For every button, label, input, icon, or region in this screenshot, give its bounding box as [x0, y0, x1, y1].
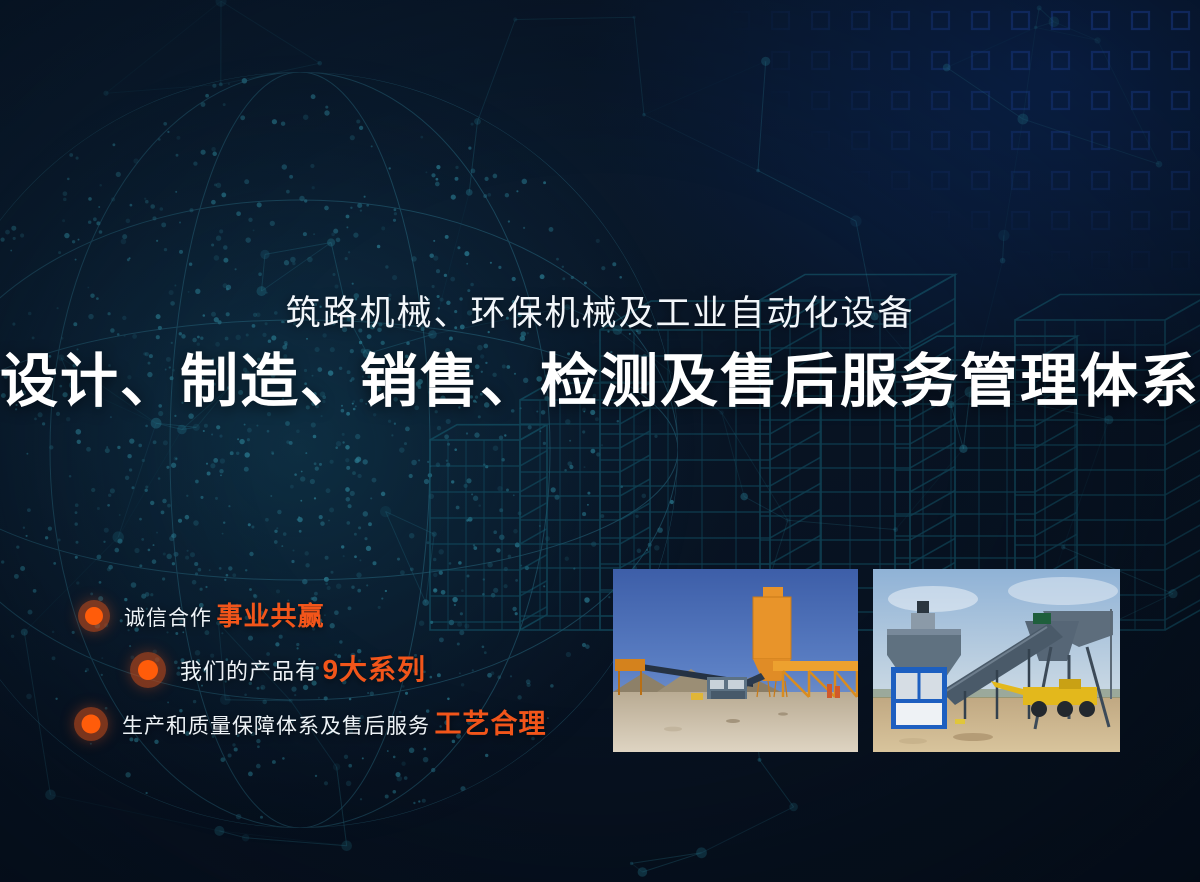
list-item: 生产和质量保障体系及售后服务 工艺合理: [74, 700, 598, 748]
hero-banner: 筑路机械、环保机械及工业自动化设备 设计、制造、销售、检测及售后服务管理体系 诚…: [0, 0, 1200, 882]
list-item-label: 诚信合作: [124, 607, 212, 630]
orange-dot-icon: [130, 652, 166, 688]
orange-dot-icon: [74, 707, 108, 741]
feature-list: 诚信合作 事业共赢 我们的产品有 9大系列 生产和质量保障体系及售后服务 工艺合…: [78, 592, 598, 748]
list-item-label: 生产和质量保障体系及售后服务: [122, 715, 430, 738]
banner-subtitle: 筑路机械、环保机械及工业自动化设备: [0, 296, 1200, 331]
list-item-highlight: 9大系列: [322, 654, 426, 685]
list-item: 诚信合作 事业共赢: [78, 592, 598, 640]
list-item-highlight: 事业共赢: [216, 601, 324, 631]
mobile-mixing-plant-photo: [873, 569, 1120, 752]
headline-block: 筑路机械、环保机械及工业自动化设备 设计、制造、销售、检测及售后服务管理体系: [0, 296, 1200, 411]
list-item-label: 我们的产品有: [180, 659, 318, 684]
orange-dot-icon: [78, 600, 110, 632]
concrete-batching-plant-photo: [613, 569, 858, 752]
banner-headline: 设计、制造、销售、检测及售后服务管理体系: [0, 353, 1200, 411]
list-item: 我们的产品有 9大系列: [130, 646, 598, 694]
list-item-highlight: 工艺合理: [434, 709, 546, 739]
